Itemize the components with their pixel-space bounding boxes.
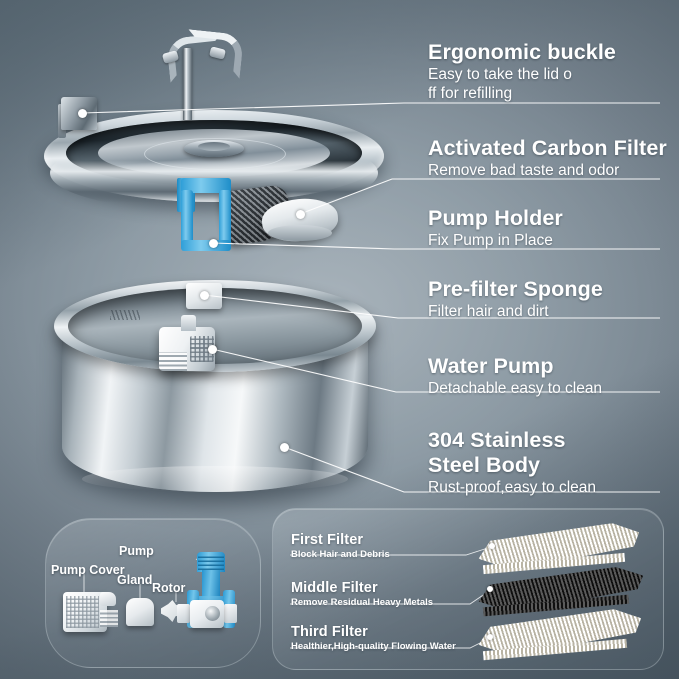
holder-bottom-bar [181, 240, 231, 251]
water-pump-outlet [181, 315, 196, 331]
callout-title: Water Pump [428, 354, 602, 379]
callout-title: Pre-filter Sponge [428, 277, 603, 302]
marker-middle-filter [487, 586, 493, 592]
filter-item-first: First Filter Block Hair and Debris [291, 532, 390, 561]
callout-title: Pump Holder [428, 206, 563, 231]
marker-water-pump [208, 345, 217, 354]
filter-sub: Healthier,High-quality Flowing Water [291, 641, 456, 653]
callout-sub-line1: Filter hair and dirt [428, 302, 603, 321]
marker-pre-filter-sponge [200, 291, 209, 300]
callout-sub-line1: Rust-proof,easy to clean [428, 478, 596, 497]
marker-first-filter [489, 543, 495, 549]
filter-sub: Remove Residual Heavy Metals [291, 597, 433, 609]
filter-item-middle: Middle Filter Remove Residual Heavy Meta… [291, 580, 433, 609]
callout-pre-filter-sponge: Pre-filter Sponge Filter hair and dirt [428, 277, 603, 321]
filter-title: Middle Filter [291, 580, 433, 597]
stainless-steel-bowl [54, 280, 376, 494]
pump-motor-left-tab [177, 604, 190, 623]
water-pump-fins [159, 352, 187, 371]
callout-pump-holder: Pump Holder Fix Pump in Place [428, 206, 563, 250]
callout-title: 304 Stainless [428, 428, 596, 453]
marker-pump-holder [209, 239, 218, 248]
pump-cover-fins [100, 610, 118, 627]
filter-tray-lip [268, 225, 332, 241]
label-pump-cover: Pump Cover [51, 563, 125, 577]
pump-motor-right-tab [224, 604, 237, 623]
marker-stainless-steel-body [280, 443, 289, 452]
pump-holder-part [177, 178, 235, 250]
callout-stainless-steel-body: 304 Stainless Steel Body Rust-proof,easy… [428, 428, 596, 497]
lid-hub-cap [198, 142, 230, 151]
label-rotor: Rotor [152, 581, 185, 595]
marker-third-filter [487, 634, 493, 640]
label-gland: Gland [117, 573, 152, 587]
pump-neck-threads [198, 556, 224, 570]
callout-sub-line2: ff for refilling [428, 84, 616, 103]
callout-title: Ergonomic buckle [428, 40, 616, 65]
callout-title: Activated Carbon Filter [428, 136, 667, 161]
callout-activated-carbon-filter: Activated Carbon Filter Remove bad taste… [428, 136, 667, 180]
callout-sub-line1: Remove bad taste and odor [428, 161, 667, 180]
gland-part [126, 598, 154, 626]
callout-sub-line1: Fix Pump in Place [428, 231, 563, 250]
callout-sub-line1: Easy to take the lid o [428, 65, 616, 84]
filter-sub: Block Hair and Debris [291, 549, 390, 561]
filter-item-third: Third Filter Healthier,High-quality Flow… [291, 624, 456, 653]
infographic-canvas: Ergonomic buckle Easy to take the lid o … [0, 0, 679, 679]
pump-cover-grille [66, 596, 99, 628]
label-pump: Pump [119, 544, 154, 558]
pump-motor-intake [205, 606, 220, 621]
filter-title: Third Filter [291, 624, 456, 641]
callout-ergonomic-buckle: Ergonomic buckle Easy to take the lid o … [428, 40, 616, 103]
callout-sub-line1: Detachable easy to clean [428, 379, 602, 398]
bowl-base-highlight [82, 466, 348, 492]
marker-activated-carbon-filter [296, 210, 305, 219]
pump-cover-nose [100, 592, 116, 606]
bowl-etching [110, 310, 140, 320]
marker-ergonomic-buckle [78, 109, 87, 118]
callout-water-pump: Water Pump Detachable easy to clean [428, 354, 602, 398]
filter-title: First Filter [291, 532, 390, 549]
callout-title-line2: Steel Body [428, 453, 596, 478]
